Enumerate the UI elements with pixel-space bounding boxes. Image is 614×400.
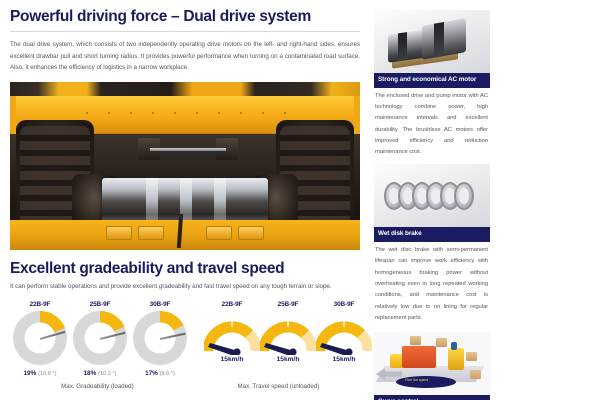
gauge-value: 19% (10.8 °) bbox=[10, 370, 70, 377]
section2-body: It can perform stable operations and pro… bbox=[10, 281, 360, 293]
gauge-speed-1: 25B-9F 15km/h bbox=[260, 301, 316, 377]
gauge-value: 18% (10.2 °) bbox=[70, 370, 130, 377]
overlay-label: Over the speed bbox=[405, 378, 428, 382]
donut-chart bbox=[133, 311, 187, 365]
gauge-model-label: 25B-9F bbox=[260, 301, 316, 308]
gauge-percent: 17% bbox=[145, 370, 158, 377]
gauge-speed-2: 30B-9F 15km/h bbox=[316, 301, 372, 377]
card-body: The wet disc brake with semi-permanent l… bbox=[374, 242, 490, 330]
gauge-captions: Max. Gradeability (loaded) Max. Travel s… bbox=[10, 383, 360, 390]
gauge-row: 22B-9F 19% (10.8 °) 25B-9F bbox=[10, 301, 360, 377]
gauge-gradeability-1: 25B-9F 18% (10.2 °) bbox=[70, 301, 130, 377]
floor-pad bbox=[206, 226, 232, 240]
gauge-value: 17% (9.6 °) bbox=[130, 370, 190, 377]
floor-pad bbox=[106, 226, 132, 240]
page-title: Powerful driving force – Dual drive syst… bbox=[10, 8, 360, 25]
gauge-degrees: (10.2 °) bbox=[98, 371, 116, 377]
section-gradeability: Excellent gradeability and travel speed … bbox=[10, 260, 360, 390]
speedometer bbox=[316, 311, 372, 355]
gauge-model-label: 22B-9F bbox=[204, 301, 260, 308]
speed-gauges: 22B-9F 15km/h bbox=[204, 301, 372, 377]
forklift bbox=[448, 348, 464, 370]
speed-value: 15km/h bbox=[316, 356, 372, 363]
right-column: Strong and economical AC motor The enclo… bbox=[370, 0, 614, 400]
speedometer bbox=[260, 311, 316, 355]
dual-drive-photo bbox=[10, 82, 360, 250]
linkage-rod bbox=[150, 148, 226, 151]
card-title: Curve control bbox=[374, 395, 490, 400]
floor-pad bbox=[138, 226, 164, 240]
ac-motor-photo bbox=[374, 10, 490, 73]
gauge-degrees: (10.8 °) bbox=[38, 371, 56, 377]
gradeability-gauges: 22B-9F 19% (10.8 °) 25B-9F bbox=[10, 301, 190, 377]
gauge-gradeability-0: 22B-9F 19% (10.8 °) bbox=[10, 301, 70, 377]
motor-unit-b bbox=[422, 18, 466, 60]
gauge-model-label: 30B-9F bbox=[316, 301, 372, 308]
wet-disk-brake-photo bbox=[374, 164, 490, 227]
card-body: The enclosed drive and pump motor with A… bbox=[374, 88, 490, 165]
card-wet-disk-brake: Wet disk brake The wet disc brake with s… bbox=[374, 164, 490, 330]
pallet-box bbox=[470, 370, 481, 379]
speed-value: 15km/h bbox=[260, 356, 316, 363]
gauge-percent: 18% bbox=[84, 370, 97, 377]
card-title: Strong and economical AC motor bbox=[374, 73, 490, 88]
pallet-box bbox=[410, 336, 421, 345]
gauge-model-label: 30B-9F bbox=[130, 301, 190, 308]
pallet-box bbox=[436, 338, 447, 347]
donut-chart bbox=[73, 311, 127, 365]
card-title: Wet disk brake bbox=[374, 227, 490, 242]
speedometer bbox=[204, 311, 260, 355]
brochure-page: Powerful driving force – Dual drive syst… bbox=[0, 0, 614, 400]
truck-trailer bbox=[402, 346, 436, 368]
donut-chart bbox=[13, 311, 67, 365]
title-divider bbox=[10, 31, 360, 32]
curve-control-illustration: Over the speed bbox=[374, 332, 490, 395]
pallet-box bbox=[466, 352, 477, 361]
brake-disc bbox=[454, 182, 474, 210]
chassis-floor bbox=[10, 220, 360, 250]
photo-top-strip bbox=[10, 82, 360, 96]
section-dual-drive: Powerful driving force – Dual drive syst… bbox=[10, 8, 360, 250]
gauge-model-label: 22B-9F bbox=[10, 301, 70, 308]
gauge-speed-0: 22B-9F 15km/h bbox=[204, 301, 260, 377]
left-column: Powerful driving force – Dual drive syst… bbox=[0, 0, 370, 400]
gauge-percent: 19% bbox=[24, 370, 37, 377]
section1-body: The dual drive system, which consists of… bbox=[10, 39, 360, 74]
travel-speed-caption: Max. Travel speed (unloaded) bbox=[197, 383, 360, 390]
card-curve-control: Over the speed Curve control Curve Contr… bbox=[374, 332, 490, 400]
card-ac-motor: Strong and economical AC motor The enclo… bbox=[374, 10, 490, 164]
gauge-model-label: 25B-9F bbox=[70, 301, 130, 308]
floor-pad bbox=[238, 226, 264, 240]
speed-value: 15km/h bbox=[204, 356, 260, 363]
gauge-degrees: (9.6 °) bbox=[160, 371, 175, 377]
gauge-gradeability-2: 30B-9F 17% (9.6 °) bbox=[130, 301, 190, 377]
section2-title: Excellent gradeability and travel speed bbox=[10, 260, 360, 277]
gradeability-caption: Max. Gradeability (loaded) bbox=[10, 383, 185, 390]
